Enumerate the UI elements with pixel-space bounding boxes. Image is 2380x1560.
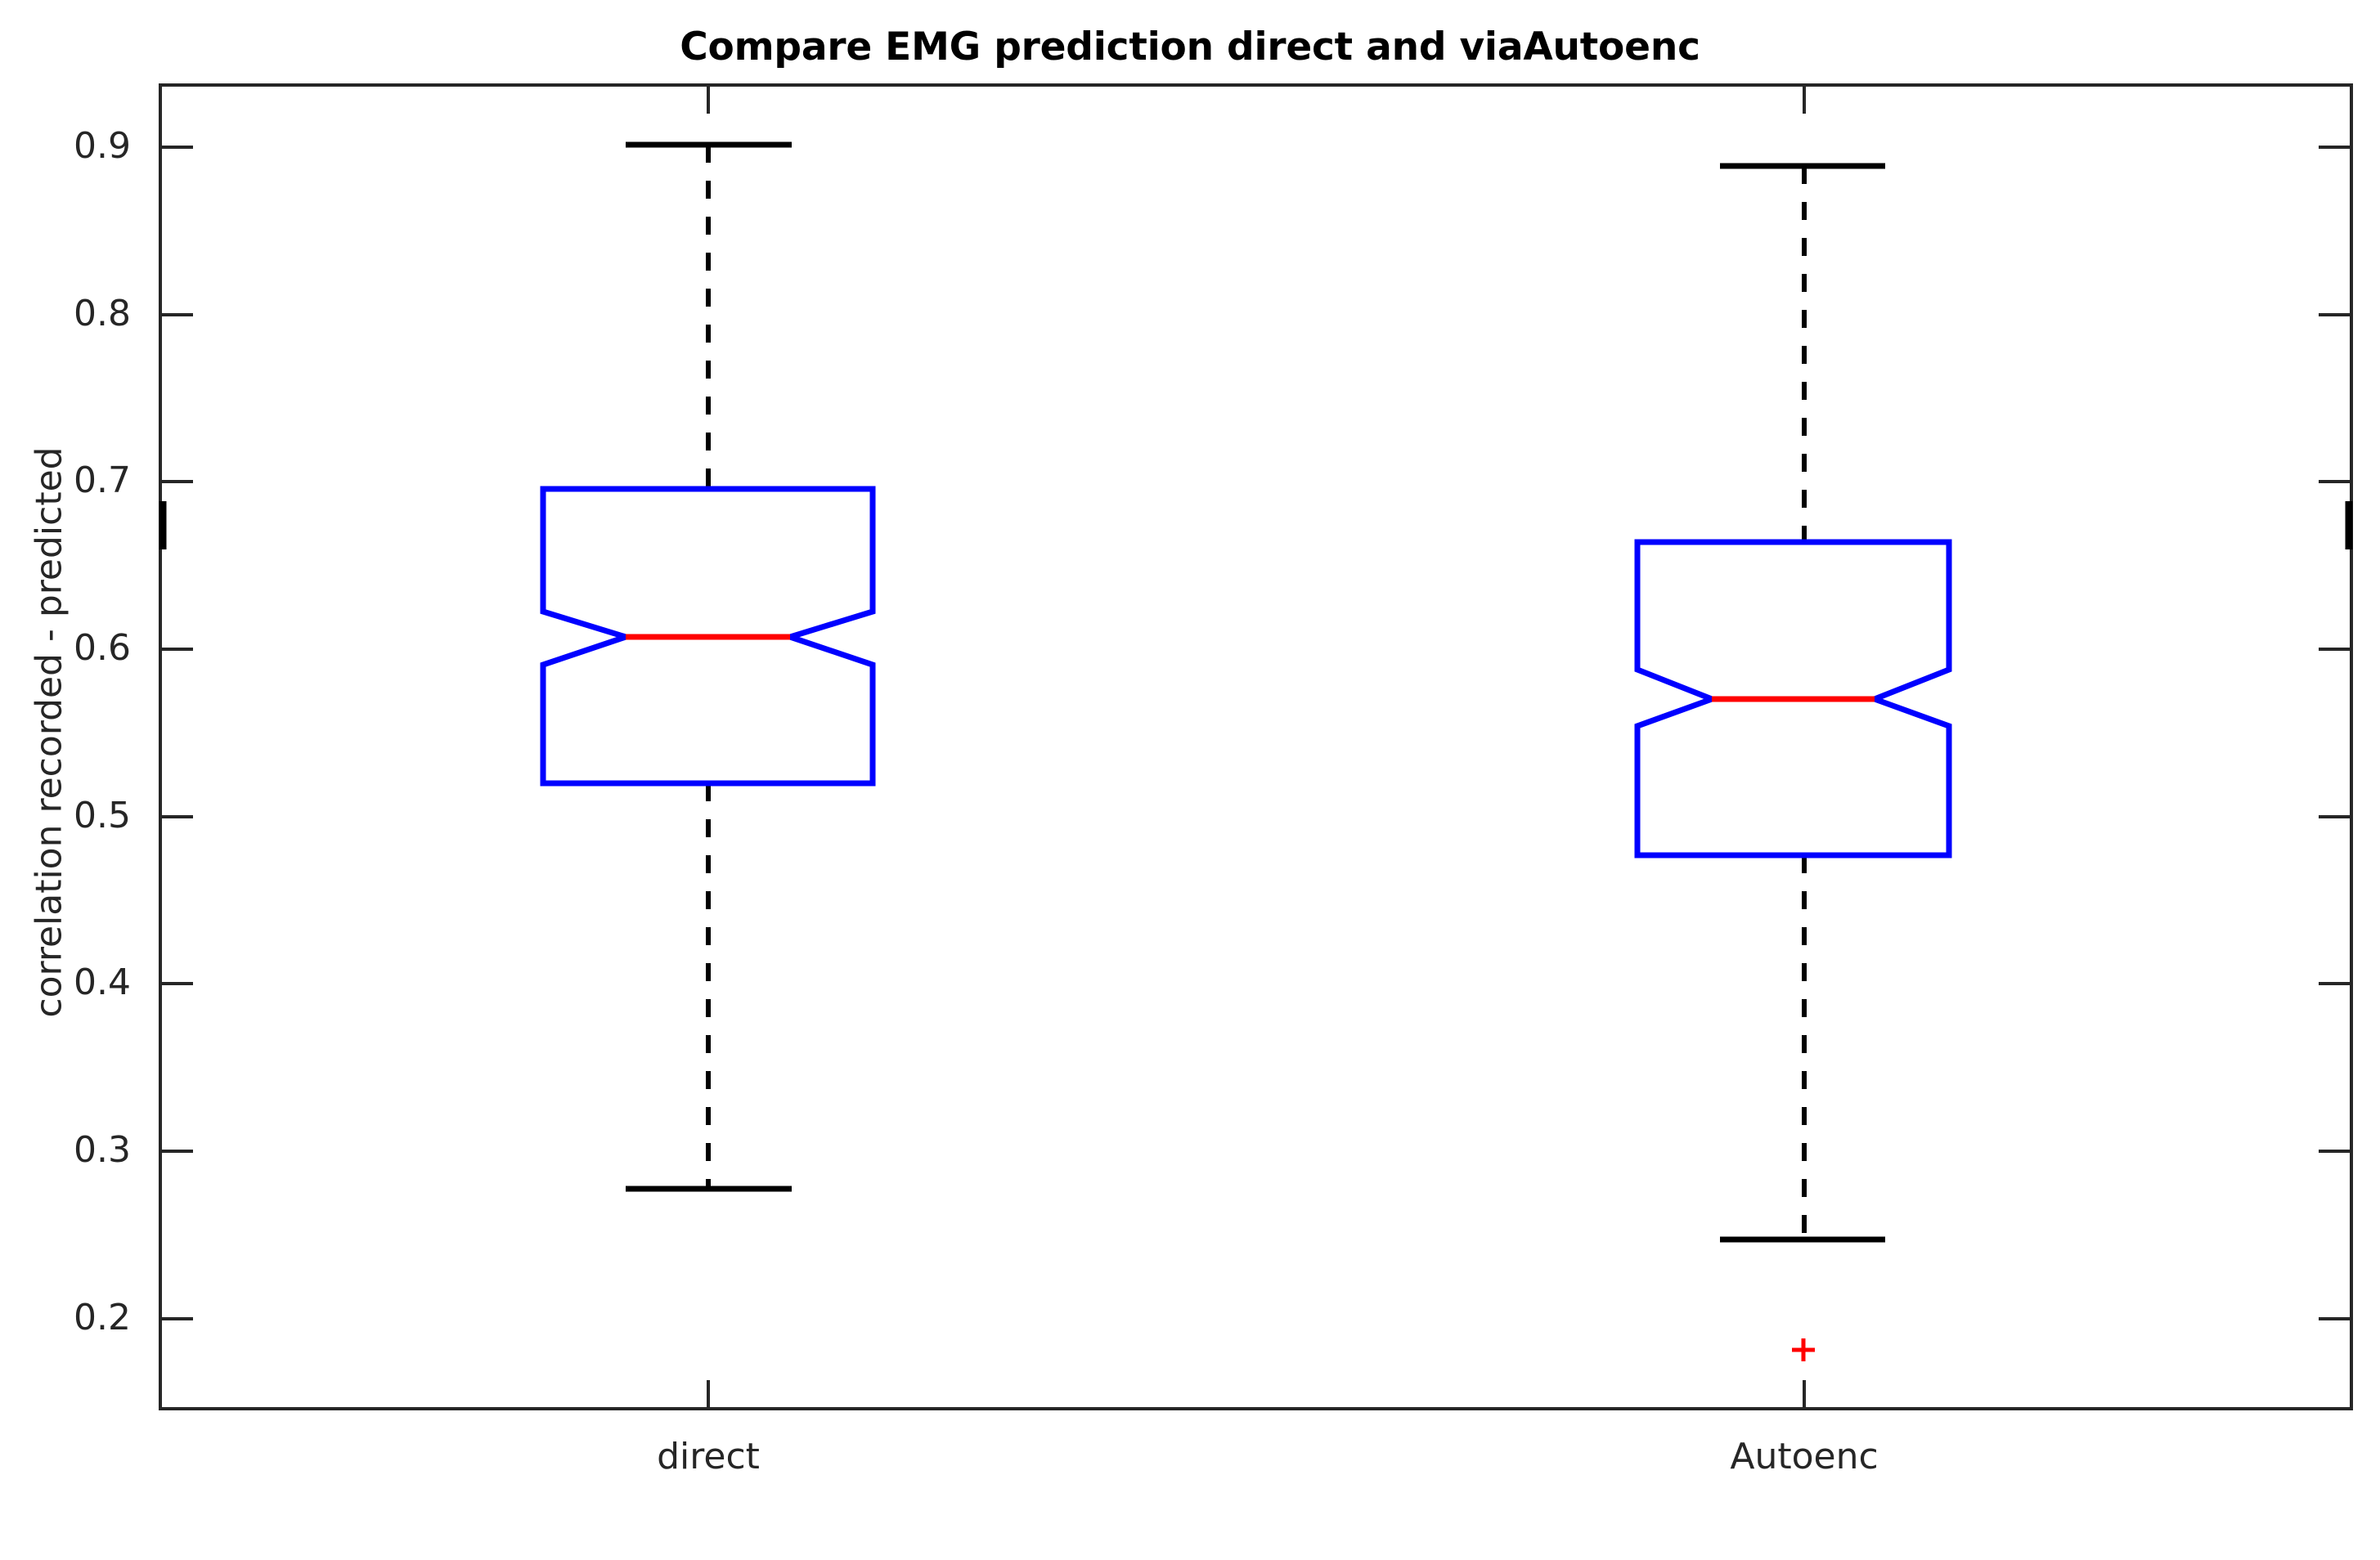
outlier-marker-autoenc xyxy=(1792,1338,1815,1361)
boxplot-autoenc[interactable] xyxy=(1637,166,1949,1361)
y-tick-marks xyxy=(160,147,2351,1319)
axes-frame xyxy=(160,85,2351,1409)
edge-clipped-box-segments xyxy=(163,501,2349,549)
figure-canvas: Compare EMG prediction direct and viaAut… xyxy=(0,0,2380,1560)
boxplot-direct[interactable] xyxy=(543,145,873,1189)
plot-area xyxy=(0,0,2380,1560)
